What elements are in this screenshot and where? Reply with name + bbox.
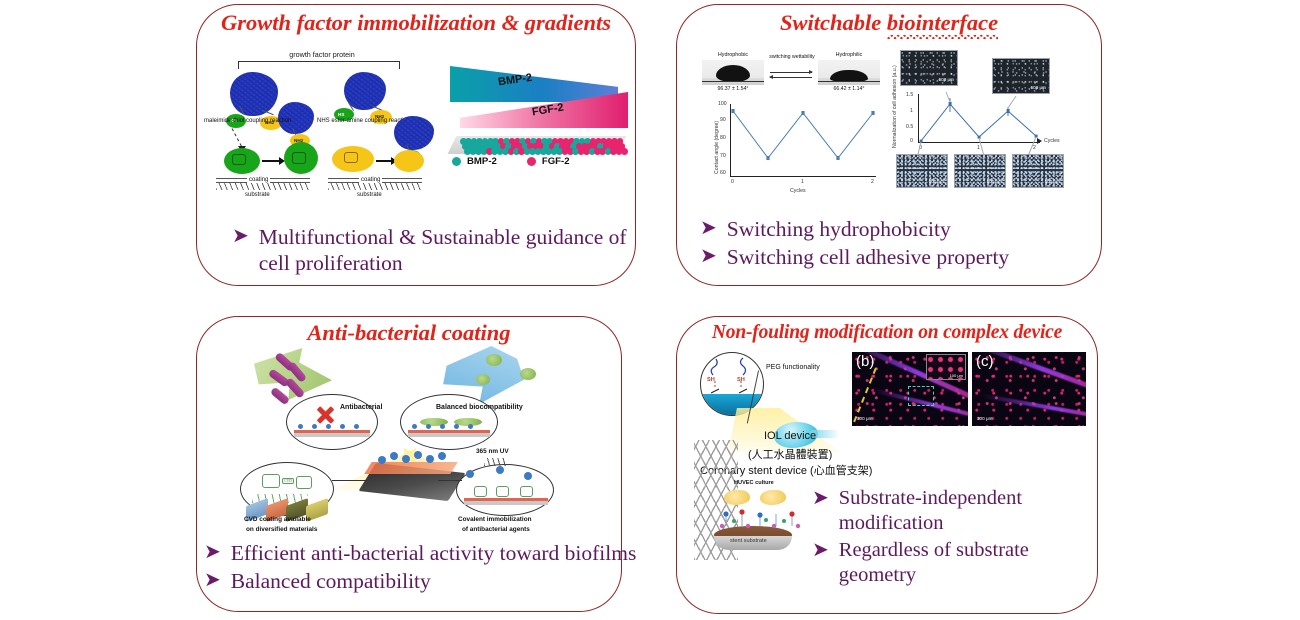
gradient-figure: BMP-2 FGF-2 BMP-2 FGF-2 — [446, 62, 628, 174]
arrow-bullet-icon: ➤ — [232, 224, 249, 249]
fgf2-legend-label: FGF-2 — [542, 156, 570, 167]
agent-dot — [466, 470, 474, 478]
substrate-hatch-2 — [328, 183, 422, 190]
bacterium — [270, 387, 290, 406]
roi-dashed-line — [853, 368, 877, 423]
scalebar-b: 300 μm — [857, 416, 872, 421]
covalent-caption-line1: Covalent immobilization — [458, 516, 532, 523]
gradient-legend: BMP-2 FGF-2 — [452, 156, 628, 167]
arrow-bullet-icon: ➤ — [700, 216, 717, 241]
fluorescence-panel-b: 100 μm (b) 300 μm — [852, 352, 968, 426]
bullet-item: ➤ Switching cell adhesive property — [700, 244, 1100, 270]
protein-blob-4 — [394, 116, 434, 150]
forward-arrow — [770, 72, 812, 73]
gradient-bead — [621, 148, 628, 155]
agent-dot — [340, 424, 345, 429]
scalebar-label: 500 μm — [929, 179, 944, 184]
card-title-non-fouling: Non-fouling modification on complex devi… — [676, 322, 1098, 344]
substrate-layer — [294, 433, 370, 437]
bullets-non-fouling: ➤ Substrate-independent modification ➤ R… — [812, 486, 1072, 590]
cvd-caption-line1: CVD coating available — [244, 516, 311, 523]
reverse-arrow — [770, 77, 812, 78]
bullet-text: Regardless of substrate geometry — [839, 538, 1072, 588]
bullets-growth-factor: ➤ Multifunctional & Sustainable guidance… — [232, 224, 632, 278]
cvd-caption-line2: on diversified materials — [246, 526, 317, 533]
hydrophobic-angle: 96.37 ± 1.54° — [702, 86, 764, 92]
peg-functionality-label: PEG functionality — [766, 364, 820, 371]
bullet-text: Efficient anti-bacterial activity toward… — [231, 540, 637, 566]
card-title-growth-factor: Growth factor immobilization & gradients — [196, 10, 636, 36]
immobilized-ring — [474, 486, 487, 497]
adherent-cell — [520, 368, 536, 380]
leader-right — [438, 480, 462, 481]
amide-blob — [394, 150, 424, 172]
iol-device-label-cn: (人工水晶體裝置) — [748, 446, 832, 462]
huvec-label: HUVEC culture — [734, 480, 774, 486]
roi-box — [908, 386, 934, 406]
arrow-bullet-icon: ➤ — [204, 568, 221, 593]
agent-dot — [426, 455, 434, 463]
cvd-badge: CVD — [282, 478, 294, 484]
bullet-item: ➤ Substrate-independent modification — [812, 486, 1072, 536]
switchable-figure: Hydrophobic 96.37 ± 1.54° switching wett… — [692, 52, 1092, 202]
surface-line-2 — [818, 81, 880, 82]
switching-wettability-label: switching wettability — [768, 54, 816, 61]
bullet-item: ➤ Regardless of substrate geometry — [812, 538, 1072, 588]
substrate-layer-3 — [464, 501, 548, 505]
arrow-bullet-icon: ➤ — [700, 244, 717, 269]
hydrophobic-droplet-image — [702, 60, 764, 85]
scalebar-label: 500 μm — [1045, 179, 1060, 184]
blocked-icon — [316, 406, 334, 424]
bullets-anti-bacterial: ➤ Efficient anti-bacterial activity towa… — [204, 540, 684, 596]
agent-dot — [414, 451, 422, 459]
uv-rays — [484, 458, 506, 466]
panel-c-letter: (c) — [976, 353, 994, 370]
conjugate-ring — [292, 152, 306, 164]
arrow-bullet-icon: ➤ — [812, 538, 829, 563]
agent-dot — [454, 424, 459, 429]
hydrophilic-droplet-image — [818, 60, 880, 85]
leader-left — [332, 480, 366, 481]
bullet-text: Switching hydrophobicity — [727, 216, 951, 242]
contact-angle-chart: Contact angle (degree) Cycles 100 90 80 … — [706, 100, 882, 196]
immobilized-ring — [520, 486, 533, 497]
maleimide-reaction-label: maleimide-thiol coupling reaction — [204, 118, 291, 124]
hydrophobic-droplet-panel: Hydrophobic 96.37 ± 1.54° — [702, 52, 764, 96]
protein-blob — [230, 72, 278, 116]
antibacterial-label: Antibacterial — [340, 404, 382, 411]
substrate-label-2: substrate — [357, 192, 382, 198]
growth-factor-schematic: growth factor protein HS NH2 NH2 maleimi… — [204, 50, 440, 200]
thiol-right-label: SH — [737, 377, 745, 383]
hydrophilic-angle: 66.42 ± 1.14° — [818, 86, 880, 92]
agent-dot — [326, 424, 331, 429]
agent-dot — [468, 424, 473, 429]
arrow-bullet-icon: ➤ — [812, 486, 829, 511]
iol-device-label: IOL device — [764, 430, 816, 442]
bullet-item: ➤ Multifunctional & Sustainable guidance… — [232, 224, 632, 276]
polymer-ring — [296, 476, 312, 489]
agent-dot — [312, 424, 317, 429]
transform-arrow-2 — [376, 160, 392, 162]
agent-dot — [426, 424, 431, 429]
bullet-item: ➤ Efficient anti-bacterial activity towa… — [204, 540, 684, 566]
substrate-label: substrate — [245, 192, 270, 198]
agent-dot — [440, 424, 445, 429]
nhs-ring — [344, 152, 358, 163]
adherent-cell — [486, 354, 502, 366]
brace-bracket — [238, 61, 400, 69]
fluorescence-panel-c: (c) 300 μm — [972, 352, 1086, 426]
scalebar-label: 500 μm — [987, 179, 1002, 184]
vessel-edge — [983, 394, 1086, 422]
transform-arrow — [262, 160, 280, 162]
hydrophilic-droplet-panel: Hydrophilic 66.42 ± 1.14° — [818, 52, 880, 96]
panel-b-letter: (b) — [856, 353, 874, 370]
substrate-hatch — [216, 183, 310, 190]
bmp2-gradient-wedge — [450, 66, 618, 102]
biocompat-bubble — [400, 394, 498, 450]
micrograph-bottom-left: 500 μm — [896, 154, 948, 188]
anti-bacterial-schematic: Antibacterial Balanced biocompatibility — [228, 352, 630, 534]
micrograph-bottom-right: 500 μm — [1012, 154, 1064, 188]
inset-scalebar: 100 μm — [950, 373, 963, 378]
bullet-item: ➤ Balanced compatibility — [204, 568, 684, 594]
cell-adhesion-chart: 500 μm 500 μm Normalization of cell adhe… — [888, 52, 1092, 202]
monomer-ring — [262, 474, 280, 488]
agent-dot — [524, 472, 532, 480]
fgf2-legend-dot — [527, 157, 536, 166]
thiol-left-label: SH — [707, 377, 715, 383]
bullet-text: Multifunctional & Sustainable guidance o… — [259, 224, 632, 276]
agent-dot — [298, 424, 303, 429]
biocompatibility-label: Balanced biocompatibility — [436, 404, 523, 411]
bullet-text: Substrate-independent modification — [839, 486, 1072, 536]
title-part-plain: Switchable — [780, 10, 887, 35]
substrate-layer-2 — [408, 433, 490, 437]
bullet-text: Switching cell adhesive property — [727, 244, 1009, 270]
arrow-bullet-icon: ➤ — [204, 540, 221, 565]
thiol-label-2: HS — [338, 112, 344, 117]
reaction-arrow — [232, 128, 242, 146]
card-title-anti-bacterial: Anti-bacterial coating — [196, 320, 622, 346]
agent-dot — [378, 456, 386, 464]
agent-dot — [496, 466, 504, 474]
surface-molecules — [712, 498, 822, 548]
adherent-cell — [476, 374, 490, 385]
agent-dot — [438, 452, 446, 460]
hydrophilic-label: Hydrophilic — [818, 52, 880, 58]
poster-canvas: Growth factor immobilization & gradients… — [0, 0, 1300, 620]
inset-zoom: 100 μm — [926, 354, 966, 380]
covalent-caption-line2: of antibacterial agents — [462, 526, 530, 533]
hydrophobic-label: Hydrophobic — [702, 52, 764, 58]
micrograph-bottom-center: 500 μm — [954, 154, 1006, 188]
surface-line — [702, 81, 764, 82]
brace-label: growth factor protein — [204, 50, 440, 59]
bullet-item: ➤ Switching hydrophobicity — [700, 216, 1100, 242]
bullet-text: Balanced compatibility — [231, 568, 431, 594]
bmp2-legend-label: BMP-2 — [467, 156, 497, 167]
title-part-misspelled: biointerface — [887, 10, 998, 38]
scalebar-c: 300 μm — [977, 416, 992, 421]
droplet-shape — [716, 65, 750, 82]
contact-angle-series — [706, 100, 882, 196]
agent-dot — [390, 452, 398, 460]
slab-coating — [364, 462, 457, 474]
agent-dot — [354, 424, 359, 429]
bmp2-legend-dot — [452, 157, 461, 166]
agent-dot — [402, 455, 410, 463]
bullets-switchable: ➤ Switching hydrophobicity ➤ Switching c… — [700, 216, 1100, 272]
maleimide-ring — [232, 154, 246, 165]
card-title-switchable: Switchable biointerface — [676, 10, 1102, 38]
immobilized-ring — [496, 486, 509, 497]
uv-label: 365 nm UV — [476, 448, 509, 455]
agent-dot — [412, 424, 417, 429]
